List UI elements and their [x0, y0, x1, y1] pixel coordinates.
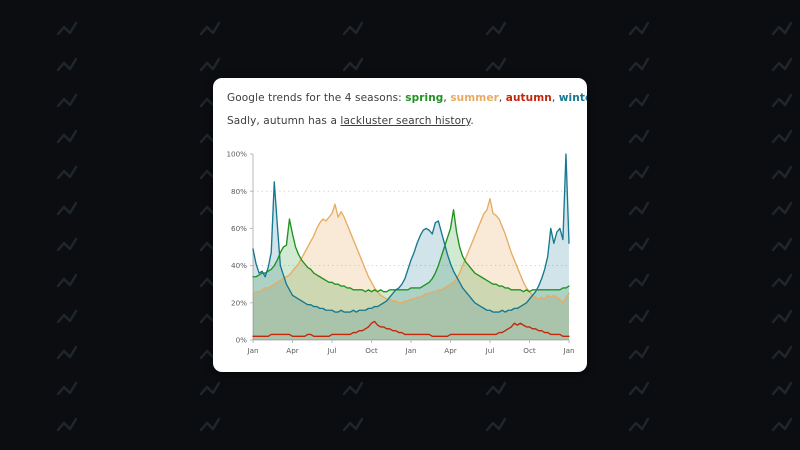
chart-x-tick-labels: JanAprJulOctJanAprJulOctJan [246, 346, 574, 355]
caption-line-1: Google trends for the 4 seasons: spring,… [227, 92, 587, 104]
x-tick-label-0: Jan [246, 346, 258, 355]
chart-svg: 0%20%40%60%80%100% JanAprJulOctJanAprJul… [223, 146, 577, 364]
season-label-summer: summer [450, 92, 499, 104]
y-tick-label-3: 60% [231, 224, 247, 233]
x-tick-label-2: Jul [327, 346, 337, 355]
y-tick-label-1: 20% [231, 298, 247, 307]
caption-separator-2: , [499, 92, 506, 104]
x-tick-label-8: Jan [562, 346, 574, 355]
chart-areas [253, 154, 569, 340]
season-label-winter: winter [559, 92, 587, 104]
seasons-trend-chart: 0%20%40%60%80%100% JanAprJulOctJanAprJul… [223, 146, 577, 364]
x-tick-label-5: Apr [444, 346, 456, 355]
lackluster-search-history-link[interactable]: lackluster search history [340, 115, 470, 127]
chart-y-tick-labels: 0%20%40%60%80%100% [226, 150, 247, 345]
x-tick-label-1: Apr [286, 346, 298, 355]
season-label-spring: spring [405, 92, 443, 104]
area-winter [253, 154, 569, 340]
x-tick-label-3: Oct [365, 346, 378, 355]
caption-prefix: Google trends for the 4 seasons: [227, 92, 405, 104]
y-tick-label-5: 100% [226, 150, 247, 159]
x-tick-label-6: Jul [485, 346, 495, 355]
x-tick-label-7: Oct [523, 346, 536, 355]
caption-separator-3: , [552, 92, 559, 104]
caption2-suffix: . [470, 115, 473, 127]
y-tick-label-2: 40% [231, 261, 247, 270]
y-tick-label-4: 80% [231, 187, 247, 196]
season-label-autumn: autumn [506, 92, 552, 104]
caption2-prefix: Sadly, autumn has a [227, 115, 340, 127]
trends-card: Google trends for the 4 seasons: spring,… [213, 78, 587, 372]
chart-gridlines [253, 191, 569, 265]
caption-line-2: Sadly, autumn has a lackluster search hi… [227, 115, 474, 127]
x-tick-label-4: Jan [404, 346, 416, 355]
y-tick-label-0: 0% [236, 336, 248, 345]
